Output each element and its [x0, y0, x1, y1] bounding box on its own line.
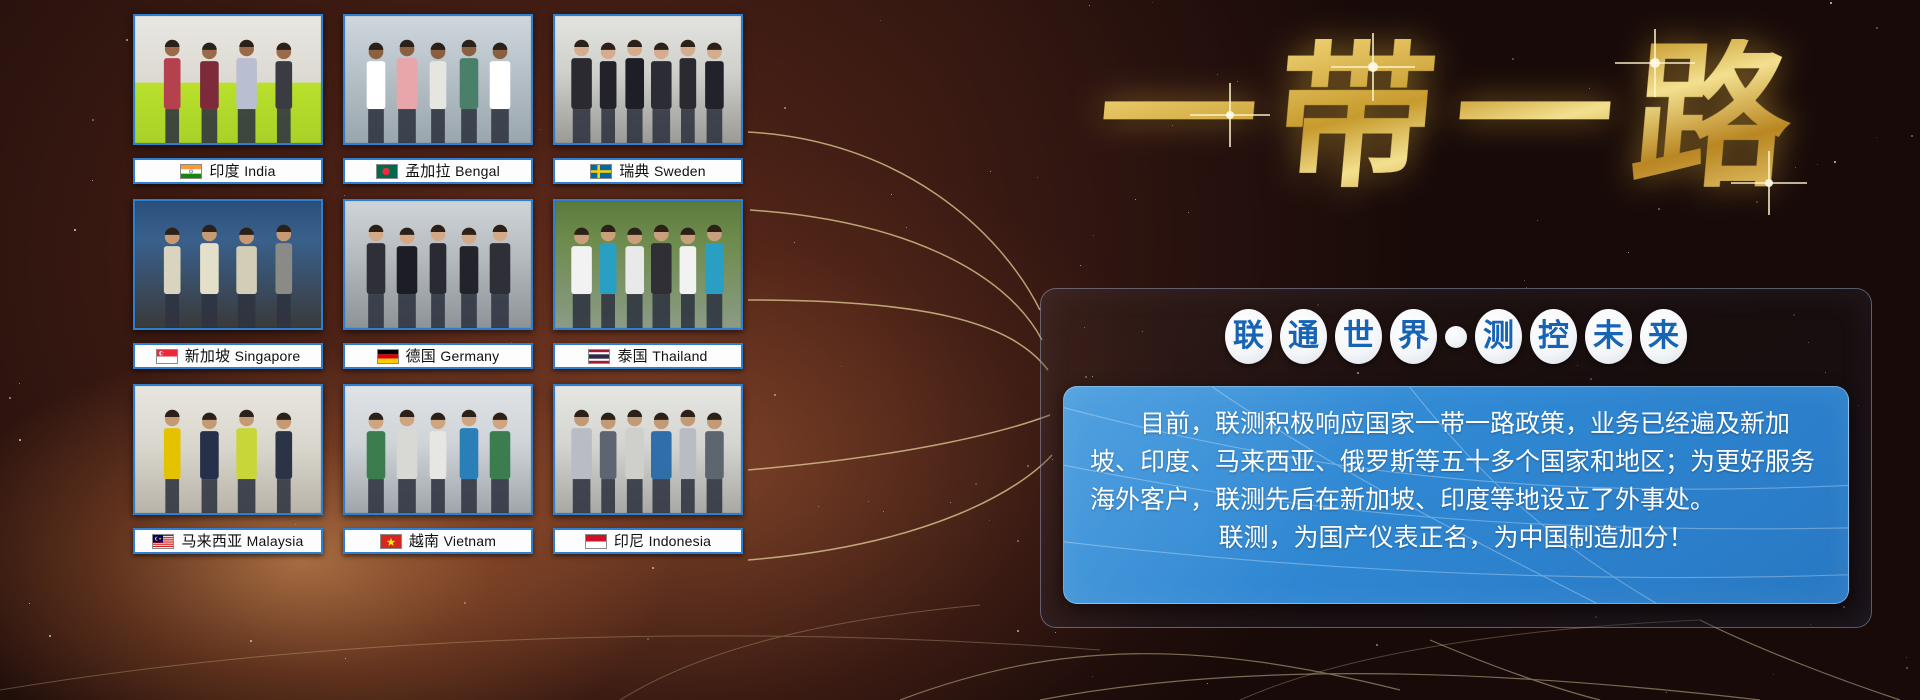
country-name-cn: 德国 [406, 348, 436, 365]
photo-scene [135, 201, 321, 328]
photo-scene [345, 386, 531, 513]
headline-belt-and-road: 一带一路 [1015, 5, 1895, 230]
country-label: 印尼 Indonesia [614, 534, 711, 549]
slogan-char: 测 [1475, 309, 1522, 364]
description-paragraph-2: 联测，为国产仪表正名，为中国制造加分！ [1090, 519, 1822, 557]
photo-scene [555, 16, 741, 143]
gallery-item[interactable]: 印尼 Indonesia [553, 384, 743, 554]
country-name-cn: 泰国 [617, 348, 647, 365]
gallery-item[interactable]: 泰国 Thailand [553, 199, 743, 369]
flag-singapore [156, 349, 178, 364]
slogan-char: 界 [1390, 309, 1437, 364]
country-photo[interactable] [133, 384, 323, 515]
country-photo-grid: 印度 India孟加拉 Bengal瑞典 Sweden新加坡 Singapore… [133, 14, 753, 584]
country-photo[interactable] [553, 199, 743, 330]
flag-india [180, 164, 202, 179]
country-name-en: India [244, 163, 275, 179]
country-name-en: Vietnam [444, 533, 497, 549]
country-caption[interactable]: 印尼 Indonesia [553, 528, 743, 554]
country-name-en: Thailand [652, 348, 707, 364]
slogan-char: 控 [1530, 309, 1577, 364]
slogan-char: 世 [1335, 309, 1382, 364]
country-label: 德国 Germany [406, 349, 500, 364]
country-name-cn: 印尼 [614, 533, 644, 550]
country-photo[interactable] [133, 199, 323, 330]
photo-scene [555, 386, 741, 513]
country-name-en: Malaysia [247, 533, 304, 549]
country-photo[interactable] [553, 384, 743, 515]
description-paragraph-1: 目前，联测积极响应国家一带一路政策，业务已经遍及新加坡、印度、马来西亚、俄罗斯等… [1090, 405, 1822, 519]
gallery-item[interactable]: 德国 Germany [343, 199, 533, 369]
photo-scene [135, 386, 321, 513]
description-text: 目前，联测积极响应国家一带一路政策，业务已经遍及新加坡、印度、马来西亚、俄罗斯等… [1090, 405, 1822, 557]
headline-text: 一带一路 [1092, 39, 1818, 197]
country-label: 越南 Vietnam [409, 534, 496, 549]
country-caption[interactable]: 印度 India [133, 158, 323, 184]
gallery-item[interactable]: 印度 India [133, 14, 323, 184]
country-photo[interactable] [343, 384, 533, 515]
country-name-cn: 瑞典 [619, 163, 649, 180]
flag-germany [377, 349, 399, 364]
country-label: 印度 India [209, 164, 275, 179]
country-caption[interactable]: 泰国 Thailand [553, 343, 743, 369]
photo-scene [345, 201, 531, 328]
country-name-cn: 越南 [409, 533, 439, 550]
gallery-item[interactable]: 马来西亚 Malaysia [133, 384, 323, 554]
country-caption[interactable]: 孟加拉 Bengal [343, 158, 533, 184]
country-name-en: Sweden [654, 163, 706, 179]
country-photo[interactable] [133, 14, 323, 145]
country-name-en: Bengal [455, 163, 500, 179]
flag-vietnam [380, 534, 402, 549]
description-box: 目前，联测积极响应国家一带一路政策，业务已经遍及新加坡、印度、马来西亚、俄罗斯等… [1063, 386, 1849, 604]
country-label: 瑞典 Sweden [619, 164, 706, 179]
slogan-char: 未 [1585, 309, 1632, 364]
country-name-cn: 印度 [209, 163, 239, 180]
photo-scene [555, 201, 741, 328]
country-caption[interactable]: 越南 Vietnam [343, 528, 533, 554]
country-label: 泰国 Thailand [617, 349, 707, 364]
country-caption[interactable]: 新加坡 Singapore [133, 343, 323, 369]
slogan-char: 通 [1280, 309, 1327, 364]
slogan-char: 来 [1640, 309, 1687, 364]
flag-indonesia [585, 534, 607, 549]
slogan-row: 联通世界测控未来 [1041, 309, 1871, 364]
info-panel: 联通世界测控未来 目前，联测积极响应国家一带一路政策，业务已经遍及新加坡、印度、… [1040, 288, 1872, 628]
country-photo[interactable] [343, 14, 533, 145]
country-name-cn: 孟加拉 [405, 163, 451, 180]
flag-malaysia [152, 534, 174, 549]
country-name-en: Indonesia [649, 533, 712, 549]
country-caption[interactable]: 德国 Germany [343, 343, 533, 369]
gallery-item[interactable]: 瑞典 Sweden [553, 14, 743, 184]
country-label: 马来西亚 Malaysia [181, 534, 303, 549]
belt-and-road-banner: 印度 India孟加拉 Bengal瑞典 Sweden新加坡 Singapore… [0, 0, 1920, 700]
photo-scene [135, 16, 321, 143]
country-name-en: Germany [440, 348, 499, 364]
flag-thailand [588, 349, 610, 364]
country-name-cn: 马来西亚 [181, 533, 242, 550]
photo-scene [345, 16, 531, 143]
slogan-char: 联 [1225, 309, 1272, 364]
flag-sweden [590, 164, 612, 179]
country-label: 孟加拉 Bengal [405, 164, 500, 179]
country-name-cn: 新加坡 [185, 348, 231, 365]
gallery-item[interactable]: 孟加拉 Bengal [343, 14, 533, 184]
country-name-en: Singapore [235, 348, 301, 364]
country-caption[interactable]: 马来西亚 Malaysia [133, 528, 323, 554]
slogan-separator-dot [1445, 326, 1467, 348]
country-label: 新加坡 Singapore [185, 349, 301, 364]
sparkle-overlay [1015, 5, 1895, 230]
country-photo[interactable] [343, 199, 533, 330]
country-caption[interactable]: 瑞典 Sweden [553, 158, 743, 184]
country-photo[interactable] [553, 14, 743, 145]
flag-bangladesh [376, 164, 398, 179]
gallery-item[interactable]: 新加坡 Singapore [133, 199, 323, 369]
gallery-item[interactable]: 越南 Vietnam [343, 384, 533, 554]
